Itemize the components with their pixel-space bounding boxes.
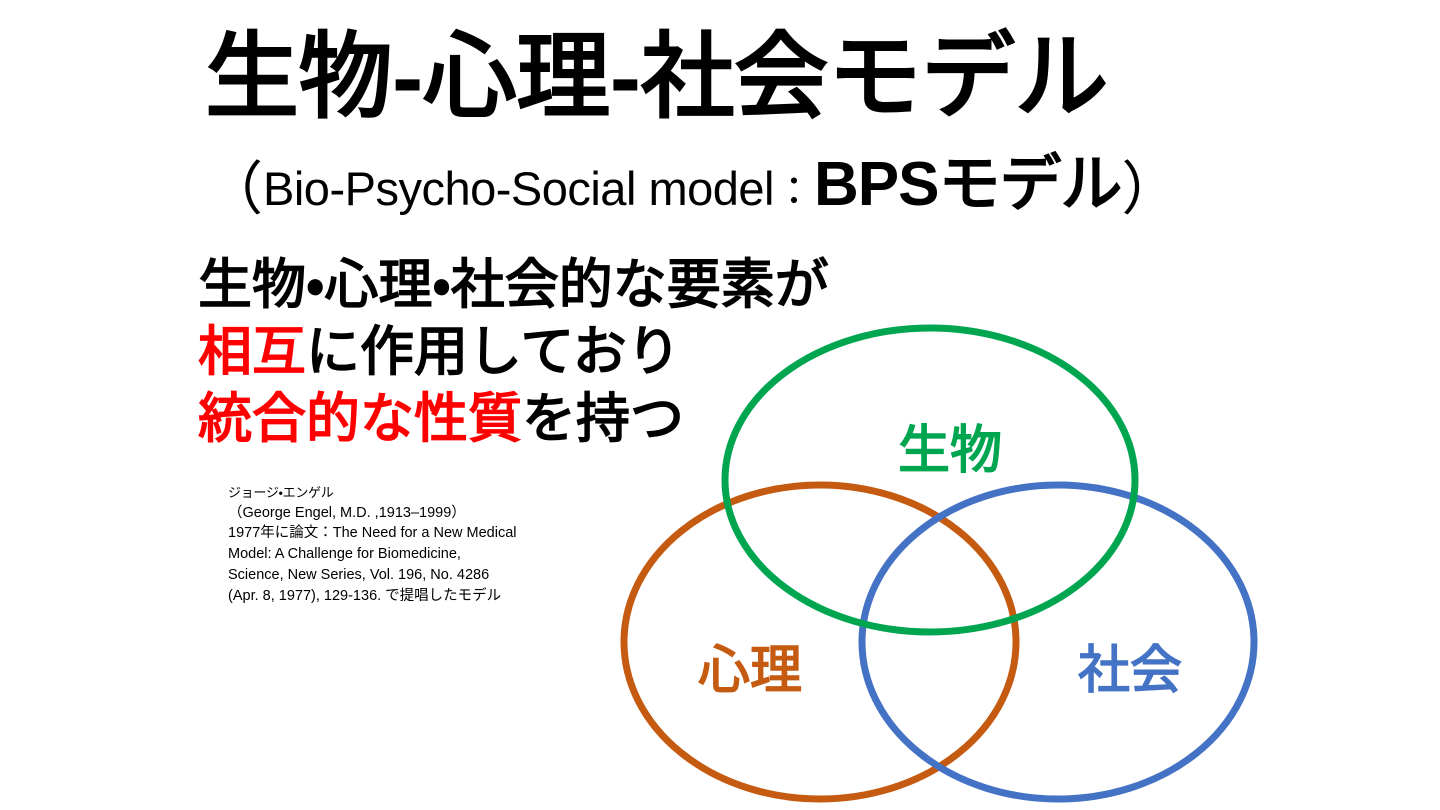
citation-line-2: （George Engel, M.D. ,1913–1999） bbox=[228, 503, 648, 524]
subtitle-colon: ： bbox=[774, 170, 814, 214]
citation-block: ジョージ・エンゲル （George Engel, M.D. ,1913–1999… bbox=[228, 484, 648, 606]
subtitle-open-paren: （ bbox=[205, 157, 263, 222]
venn-label-psycho: 心理 bbox=[698, 642, 802, 700]
venn-circle-social bbox=[862, 485, 1254, 799]
body-line-3-highlight: 統合的な性質 bbox=[198, 389, 522, 449]
venn-diagram: 生物 心理 社会 bbox=[620, 320, 1280, 810]
citation-line-3: 1977年に論文：The Need for a New Medical bbox=[228, 523, 648, 544]
subtitle-close-paren: ） bbox=[1121, 157, 1179, 222]
citation-line-5: Science, New Series, Vol. 196, No. 4286 bbox=[228, 565, 648, 586]
slide-canvas: 生物-心理-社会モデル （Bio-Psycho-Social model：BPS… bbox=[0, 0, 1440, 810]
subtitle: （Bio-Psycho-Social model：BPSモデル） bbox=[205, 154, 1305, 219]
body-line-2-highlight: 相互 bbox=[198, 322, 306, 382]
venn-label-bio: 生物 bbox=[898, 422, 1002, 480]
page-title: 生物-心理-社会モデル bbox=[205, 26, 1255, 128]
citation-line-4: Model: A Challenge for Biomedicine, bbox=[228, 544, 648, 565]
subtitle-roman-text: Bio-Psycho-Social model bbox=[263, 162, 774, 215]
venn-circle-bio bbox=[725, 328, 1135, 632]
citation-line-6: (Apr. 8, 1977), 129-136. で提唱したモデル bbox=[228, 586, 648, 607]
citation-line-1: ジョージ・エンゲル bbox=[228, 484, 648, 503]
subtitle-bps-label: BPSモデル bbox=[814, 150, 1121, 219]
venn-label-social: 社会 bbox=[1077, 642, 1182, 700]
venn-circle-psycho bbox=[624, 485, 1016, 799]
body-line-1-seg-1: 生物・心理・社会的な要素が bbox=[198, 255, 829, 315]
body-line-1: 生物・心理・社会的な要素が bbox=[198, 252, 958, 319]
